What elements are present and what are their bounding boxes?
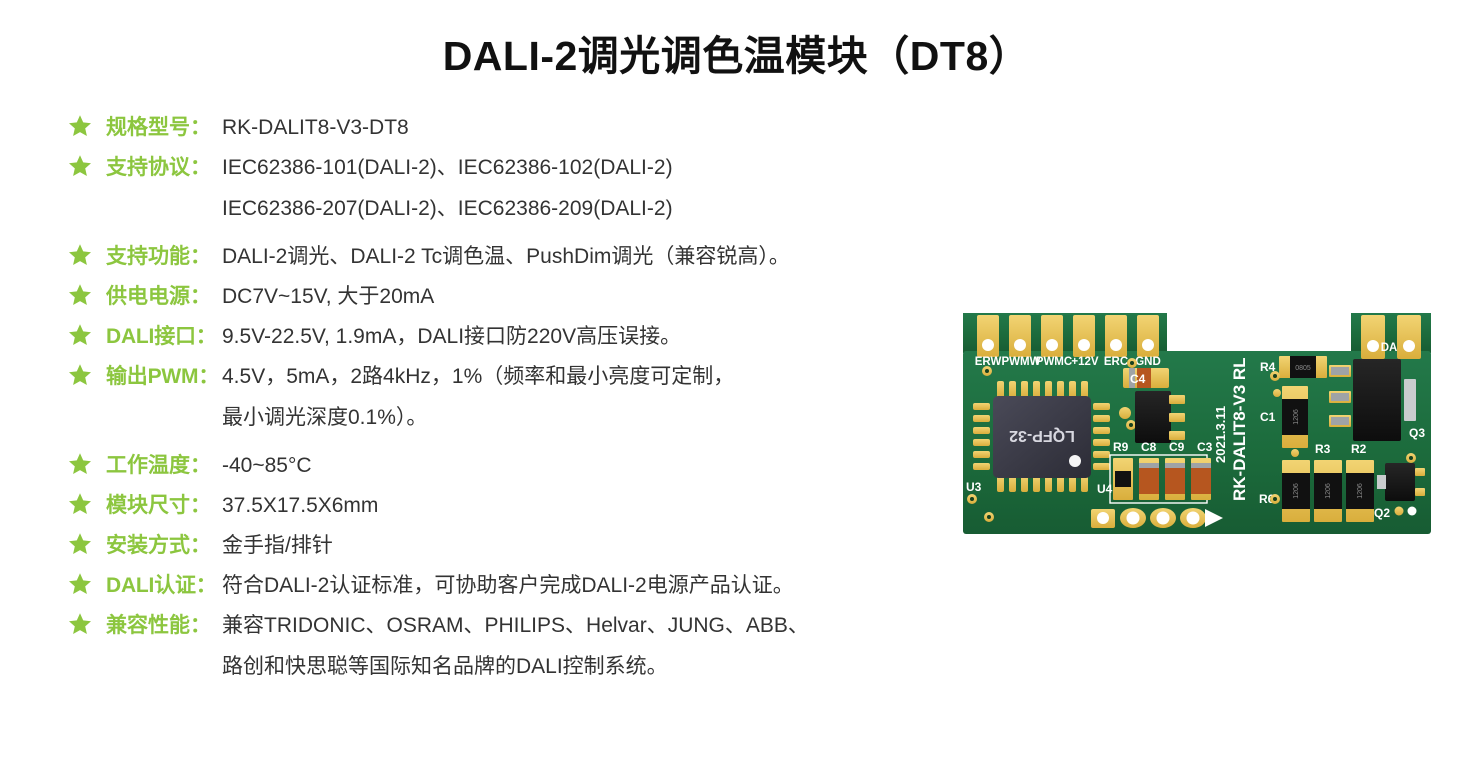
spec-row: DALI接口： 9.5V-22.5V, 1.9mA，DALI接口防220V高压误… [68,321,968,352]
spec-label: 规格型号： [94,112,222,143]
svg-text:0805: 0805 [1295,365,1311,372]
spec-value-line-2: 最小调光深度0.1%）。 [222,402,968,433]
star-icon [68,452,94,478]
spec-value-line: 4.5V，5mA，2路4kHz，1%（频率和最小亮度可定制， [222,361,968,392]
spec-value-line: IEC62386-101(DALI-2)、IEC62386-102(DALI-2… [222,152,968,183]
pin-label-pwmw: PWMW [1002,356,1041,368]
pcb-board-image: ERW PWMW PWMC +12V ERC GND DA [957,303,1439,548]
svg-text:1206: 1206 [1357,483,1364,499]
ref-c9: C9 [1169,440,1185,454]
spec-value: -40~85°C [222,450,968,481]
spec-value: 37.5X17.5X6mm [222,490,968,521]
ref-c1: C1 [1260,410,1276,424]
spec-label: 模块尺寸： [94,490,222,521]
mcu-marking: LQFP-32 [1009,427,1075,444]
spec-row: 供电电源： DC7V~15V, 大于20mA [68,281,968,312]
star-icon [68,243,94,269]
spec-label: DALI认证： [94,570,222,601]
ref-c4: C4 [1130,372,1146,386]
spec-row: 支持功能： DALI-2调光、DALI-2 Tc调色温、PushDim调光（兼容… [68,241,968,272]
svg-text:1206: 1206 [1293,409,1300,425]
spec-row: 兼容性能： 兼容TRIDONIC、OSRAM、PHILIPS、Helvar、JU… [68,610,968,682]
star-icon [68,532,94,558]
spec-value: RK-DALIT8-V3-DT8 [222,112,968,143]
silkscreen-part-number: RK-DALIT8-V3 RL [1230,357,1249,501]
pin-label-pwmc: PWMC [1036,356,1072,368]
ref-c8: C8 [1141,440,1157,454]
spec-row: 安装方式： 金手指/排针 [68,530,968,561]
spec-row: 规格型号： RK-DALIT8-V3-DT8 [68,112,968,143]
spec-label: 兼容性能： [94,610,222,641]
spec-value: DC7V~15V, 大于20mA [222,281,968,312]
spec-list: 规格型号： RK-DALIT8-V3-DT8 支持协议： IEC62386-10… [68,112,968,691]
ref-c3: C3 [1197,440,1213,454]
spec-row: 支持协议： IEC62386-101(DALI-2)、IEC62386-102(… [68,152,968,224]
spec-label: 安装方式： [94,530,222,561]
pin-label-12v: +12V [1071,356,1099,368]
spec-label: 供电电源： [94,281,222,312]
ref-r9: R9 [1113,440,1129,454]
spec-value: 符合DALI-2认证标准，可协助客户完成DALI-2电源产品认证。 [222,570,968,601]
star-icon [68,154,94,180]
pin-label-gnd: GND [1135,356,1161,368]
spec-value: DALI-2调光、DALI-2 Tc调色温、PushDim调光（兼容锐高）。 [222,241,968,272]
svg-text:1206: 1206 [1325,483,1332,499]
ref-r3: R3 [1315,442,1331,456]
star-icon [68,612,94,638]
star-icon [68,283,94,309]
spec-label: 工作温度： [94,450,222,481]
spec-row: 模块尺寸： 37.5X17.5X6mm [68,490,968,521]
star-icon [68,114,94,140]
spec-label: 输出PWM： [94,361,222,392]
star-icon [68,572,94,598]
spec-label: 支持功能： [94,241,222,272]
spec-value: 兼容TRIDONIC、OSRAM、PHILIPS、Helvar、JUNG、ABB… [222,610,968,682]
spec-value-line: 兼容TRIDONIC、OSRAM、PHILIPS、Helvar、JUNG、ABB… [222,610,968,641]
spec-row: DALI认证： 符合DALI-2认证标准，可协助客户完成DALI-2电源产品认证… [68,570,968,601]
ref-u3: U3 [966,480,982,494]
spec-value-line-2: 路创和快思聪等国际知名品牌的DALI控制系统。 [222,651,968,682]
star-icon [68,363,94,389]
spec-row: 工作温度： -40~85°C [68,450,968,481]
spec-label: 支持协议： [94,152,222,183]
ref-q3: Q3 [1409,426,1425,440]
ref-r2: R2 [1351,442,1367,456]
spec-value: 金手指/排针 [222,530,968,561]
spec-row: 输出PWM： 4.5V，5mA，2路4kHz，1%（频率和最小亮度可定制， 最小… [68,361,968,433]
product-spec-page: DALI-2调光调色温模块（DT8） 规格型号： RK-DALIT8-V3-DT… [0,0,1473,783]
star-icon [68,492,94,518]
spec-value: 9.5V-22.5V, 1.9mA，DALI接口防220V高压误接。 [222,321,968,352]
page-title: DALI-2调光调色温模块（DT8） [0,22,1473,82]
pin-label-da: DA [1381,342,1398,354]
star-icon [68,323,94,349]
spec-value-line-2: IEC62386-207(DALI-2)、IEC62386-209(DALI-2… [222,193,968,224]
spec-value: 4.5V，5mA，2路4kHz，1%（频率和最小亮度可定制， 最小调光深度0.1… [222,361,968,433]
pin-label-erc: ERC [1104,356,1128,368]
silkscreen-date: 2021.3.11 [1213,406,1228,463]
svg-text:1206: 1206 [1293,483,1300,499]
ref-q2: Q2 [1374,506,1390,520]
spec-label: DALI接口： [94,321,222,352]
spec-value: IEC62386-101(DALI-2)、IEC62386-102(DALI-2… [222,152,968,224]
